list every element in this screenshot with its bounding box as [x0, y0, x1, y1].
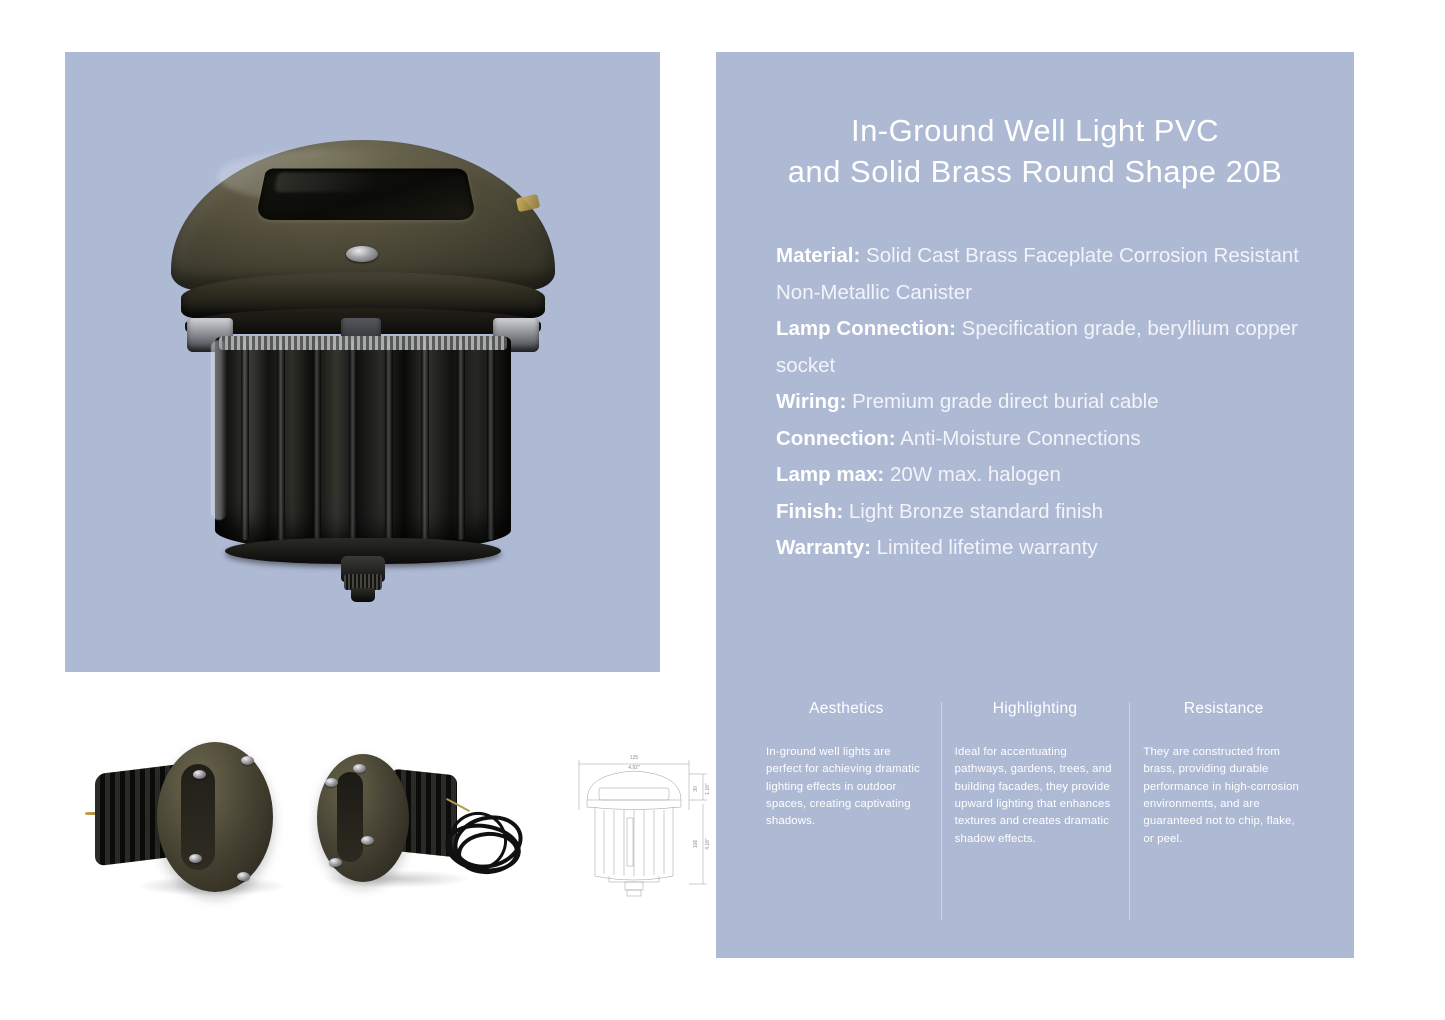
hero-product-photo	[65, 52, 660, 672]
thumb1-screw-3	[189, 854, 202, 863]
spec-row-warranty: Warranty: Limited lifetime warranty	[776, 530, 1316, 566]
spec-row-finish: Finish: Light Bronze standard finish	[776, 494, 1316, 530]
spec-value-connection: Anti-Moisture Connections	[900, 427, 1140, 450]
product-title-line-1: In-Ground Well Light PVC	[750, 110, 1320, 151]
thumb1-screw-4	[237, 872, 250, 881]
dim-body-height-mm: 106	[693, 840, 699, 849]
feature-columns: Aesthetics In-ground well lights are per…	[752, 700, 1318, 930]
dim-width-in: 4.92"	[628, 765, 640, 771]
feature-body-aesthetics: In-ground well lights are perfect for ac…	[766, 744, 927, 831]
product-title: In-Ground Well Light PVC and Solid Brass…	[750, 110, 1320, 192]
spec-row-lamp-max: Lamp max: 20W max. halogen	[776, 457, 1316, 493]
dim-cap-height-mm: 30	[693, 786, 699, 792]
thumbnail-faceplate-view	[85, 720, 285, 910]
feature-column-resistance: Resistance They are constructed from bra…	[1129, 700, 1318, 930]
spec-value-lamp-max: 20W max. halogen	[890, 463, 1061, 486]
pvc-canister-body	[215, 336, 511, 552]
feature-column-highlighting: Highlighting Ideal for accentuating path…	[941, 700, 1130, 930]
feature-heading-highlighting: Highlighting	[955, 700, 1116, 718]
feature-column-aesthetics: Aesthetics In-ground well lights are per…	[752, 700, 941, 930]
product-title-line-2: and Solid Brass Round Shape 20B	[750, 151, 1320, 192]
spec-row-material: Material: Solid Cast Brass Faceplate Cor…	[776, 238, 1316, 311]
dim-width-mm: 125	[630, 755, 639, 761]
thumb2-screw-2	[325, 778, 338, 787]
spec-value-finish: Light Bronze standard finish	[849, 500, 1103, 523]
thumb1-screw-1	[193, 770, 206, 779]
spec-row-wiring: Wiring: Premium grade direct burial cabl…	[776, 384, 1316, 420]
spec-label-lamp-max: Lamp max:	[776, 463, 884, 486]
feature-body-highlighting: Ideal for accentuating pathways, gardens…	[955, 744, 1116, 848]
specification-list: Material: Solid Cast Brass Faceplate Cor…	[776, 238, 1316, 566]
spec-label-wiring: Wiring:	[776, 390, 846, 413]
spec-value-warranty: Limited lifetime warranty	[877, 536, 1098, 559]
thumb2-light-slot	[337, 772, 363, 862]
spec-row-lamp-connection: Lamp Connection: Specification grade, be…	[776, 311, 1316, 384]
faceplate-screw	[346, 246, 378, 262]
lens-sheen	[273, 172, 403, 192]
feature-heading-resistance: Resistance	[1143, 700, 1304, 718]
spec-label-material: Material:	[776, 244, 860, 267]
thumb1-screw-2	[241, 756, 254, 765]
spec-label-connection: Connection:	[776, 427, 896, 450]
thumb2-screw-3	[361, 836, 374, 845]
specification-panel: In-Ground Well Light PVC and Solid Brass…	[716, 52, 1354, 958]
cable-gland-tip	[351, 588, 375, 602]
thumb2-screw-1	[353, 764, 366, 773]
well-light-product-illustration	[163, 140, 563, 610]
spec-label-lamp-connection: Lamp Connection:	[776, 317, 956, 340]
hero-image-panel	[65, 52, 660, 672]
thumbnail-cable-view	[295, 720, 525, 910]
canister-edge-highlight	[211, 340, 227, 520]
thumb1-brass-faceplate	[157, 742, 273, 892]
thumb2-screw-4	[329, 858, 342, 867]
dim-body-height-in: 4.18"	[705, 838, 711, 850]
technical-dimension-drawing: 125 4.92" 30 1.18" 106 4.18"	[557, 744, 727, 904]
spec-value-wiring: Premium grade direct burial cable	[852, 390, 1159, 413]
product-datasheet-page: 125 4.92" 30 1.18" 106 4.18" In-Ground W…	[0, 0, 1445, 1020]
spec-row-connection: Connection: Anti-Moisture Connections	[776, 421, 1316, 457]
spec-label-warranty: Warranty:	[776, 536, 871, 559]
feature-body-resistance: They are constructed from brass, providi…	[1143, 744, 1304, 848]
feature-heading-aesthetics: Aesthetics	[766, 700, 927, 718]
dim-cap-height-in: 1.18"	[705, 783, 711, 795]
canister-top-band	[219, 336, 507, 350]
product-thumbnail-row: 125 4.92" 30 1.18" 106 4.18"	[65, 720, 685, 920]
spec-label-finish: Finish:	[776, 500, 843, 523]
brass-accent	[515, 194, 539, 212]
lens-opening	[255, 169, 476, 221]
